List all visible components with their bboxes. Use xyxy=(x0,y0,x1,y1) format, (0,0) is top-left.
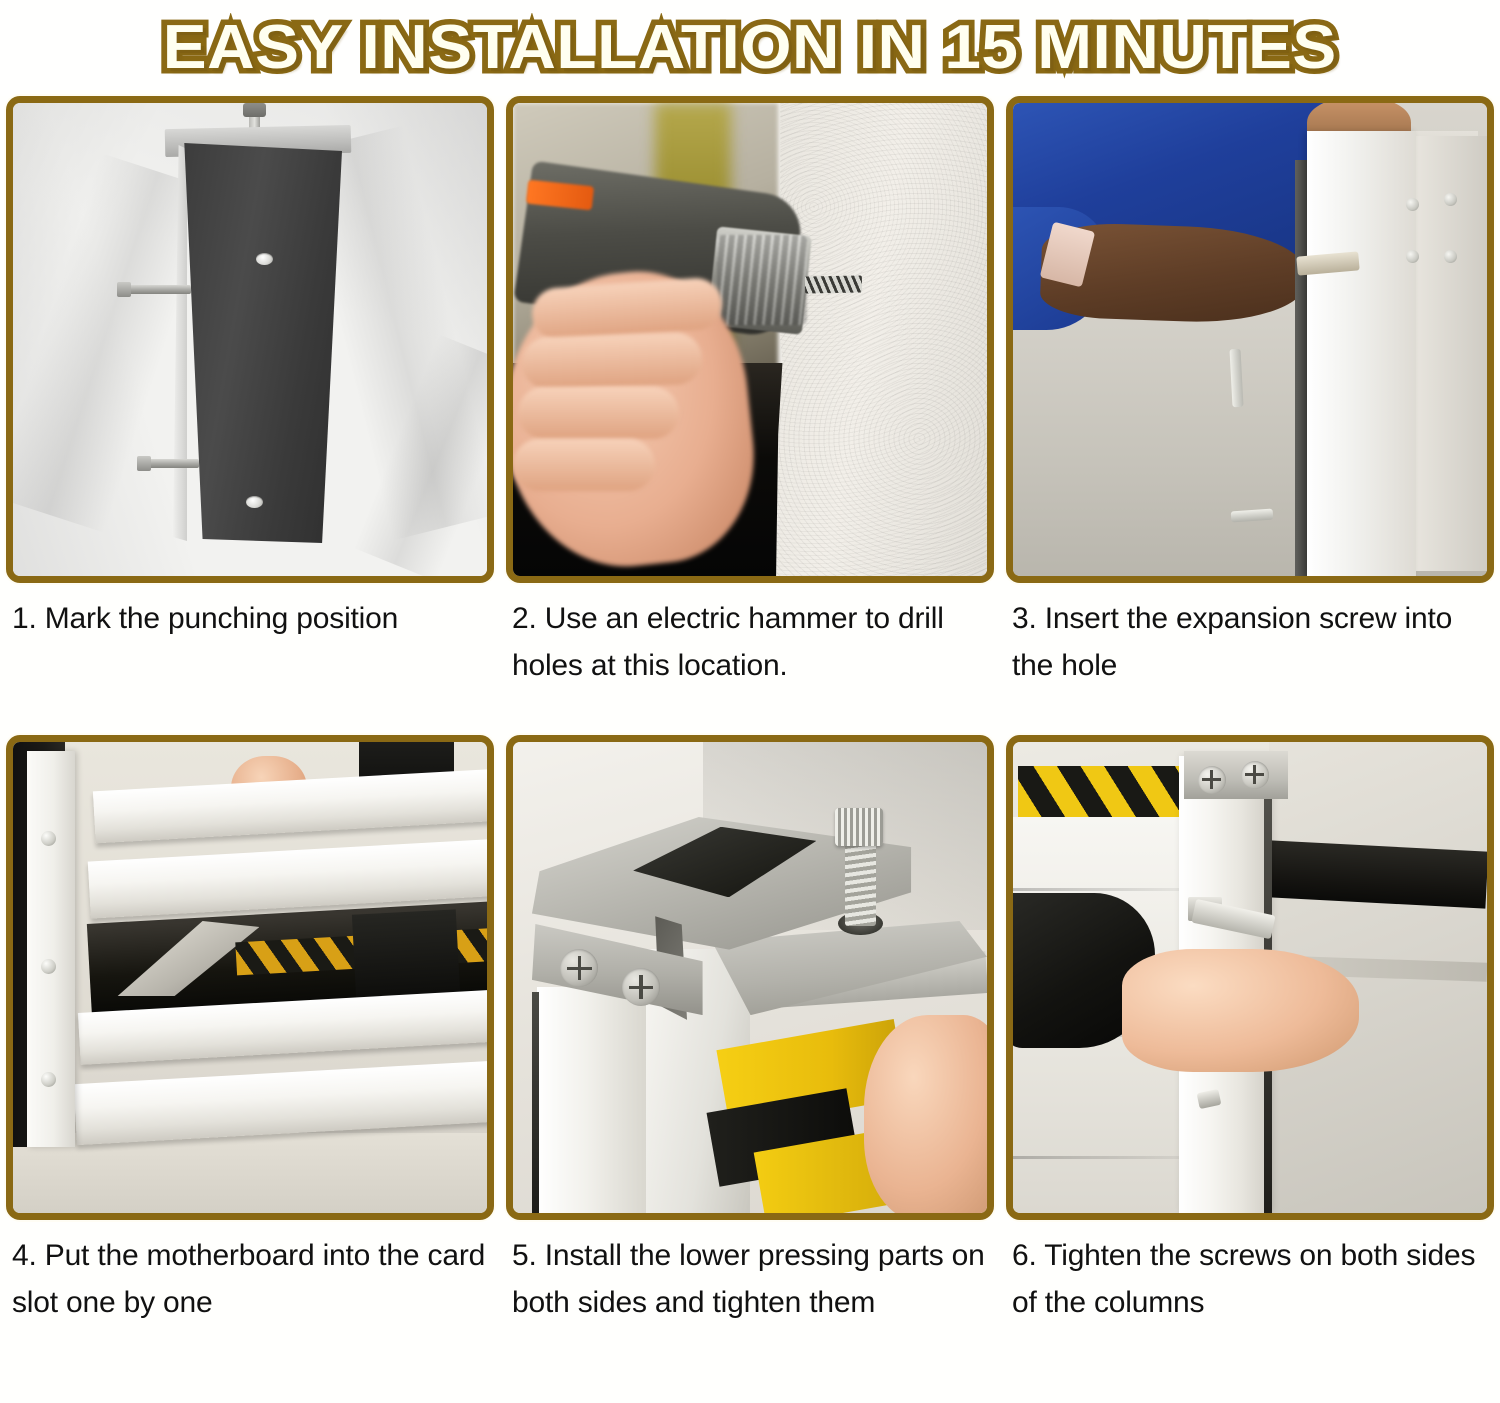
bolt-head-lower xyxy=(137,456,151,471)
top-bolt-head xyxy=(243,103,266,117)
step-4-caption: 4. Put the motherboard into the card slo… xyxy=(6,1220,494,1382)
phillips-cross xyxy=(639,975,642,999)
finger xyxy=(513,439,655,491)
finger xyxy=(522,332,704,390)
step-1-caption: 1. Mark the punching position xyxy=(6,583,494,735)
marking-hole-upper xyxy=(256,253,273,265)
white-column xyxy=(1307,131,1416,576)
step-cell-3: 3. Insert the expansion screw into the h… xyxy=(1000,96,1500,735)
panel-groove xyxy=(1013,888,1184,891)
page-title: EASY INSTALLATION IN 15 MINUTES xyxy=(163,17,1337,79)
dark-metal-post xyxy=(176,143,342,543)
white-column xyxy=(27,751,74,1147)
scene-pressing-clamp xyxy=(513,742,987,1213)
column-screw xyxy=(1406,198,1419,211)
scene-card-slot xyxy=(13,742,487,1213)
scene-drilling-wall xyxy=(513,103,987,576)
drill-chuck-rings xyxy=(717,235,807,325)
panel-groove xyxy=(1013,1156,1184,1159)
column-screw xyxy=(1198,766,1226,794)
black-skirting-board xyxy=(1268,840,1487,908)
step-5-photo xyxy=(506,735,994,1220)
step-cell-1: 1. Mark the punching position xyxy=(0,96,500,735)
phillips-cross xyxy=(578,956,581,980)
phillips-cross xyxy=(1253,765,1256,784)
steps-row-bottom: 4. Put the motherboard into the card slo… xyxy=(0,735,1500,1382)
column-screw xyxy=(1241,761,1269,789)
step-6-photo xyxy=(1006,735,1494,1220)
step-3-caption: 3. Insert the expansion screw into the h… xyxy=(1006,583,1494,735)
drill-bit xyxy=(804,275,861,293)
white-column xyxy=(537,987,646,1213)
scene-expansion-screw xyxy=(1013,103,1487,576)
step-cell-6: 6. Tighten the screws on both sides of t… xyxy=(1000,735,1500,1382)
finger xyxy=(518,387,679,439)
step-3-photo xyxy=(1006,96,1494,583)
bolt-head-upper xyxy=(117,282,131,297)
phillips-cross xyxy=(1210,770,1213,789)
steps-grid: 1. Mark the punching position xyxy=(0,96,1500,1382)
step-1-photo xyxy=(6,96,494,583)
thumbscrew-knurled-head xyxy=(835,808,882,846)
step-4-photo xyxy=(6,735,494,1220)
hazard-stripe-tape xyxy=(1018,766,1179,818)
textured-white-wall xyxy=(776,103,987,576)
scene-tighten-screws xyxy=(1013,742,1487,1213)
column-screw xyxy=(1444,250,1457,263)
scene-marking-post xyxy=(13,103,487,576)
column-screw xyxy=(1406,250,1419,263)
column-seam xyxy=(532,992,539,1213)
header-banner: EASY INSTALLATION IN 15 MINUTES xyxy=(0,0,1500,96)
step-cell-5: 5. Install the lower pressing parts on b… xyxy=(500,735,1000,1382)
thumbscrew-thread xyxy=(845,841,876,926)
marking-hole-lower xyxy=(246,496,263,508)
step-cell-4: 4. Put the motherboard into the card slo… xyxy=(0,735,500,1382)
installer-hand xyxy=(864,1015,987,1213)
step-2-caption: 2. Use an electric hammer to drill holes… xyxy=(506,583,994,735)
step-2-photo xyxy=(506,96,994,583)
installer-hand xyxy=(1122,949,1359,1071)
protruding-bolt-upper xyxy=(123,285,191,294)
step-5-caption: 5. Install the lower pressing parts on b… xyxy=(506,1220,994,1382)
person-trousers-lower xyxy=(352,909,461,999)
steps-row-top: 1. Mark the punching position xyxy=(0,96,1500,735)
step-6-caption: 6. Tighten the screws on both sides of t… xyxy=(1006,1220,1494,1382)
phillips-screw xyxy=(622,968,660,1006)
step-cell-2: 2. Use an electric hammer to drill holes… xyxy=(500,96,1000,735)
